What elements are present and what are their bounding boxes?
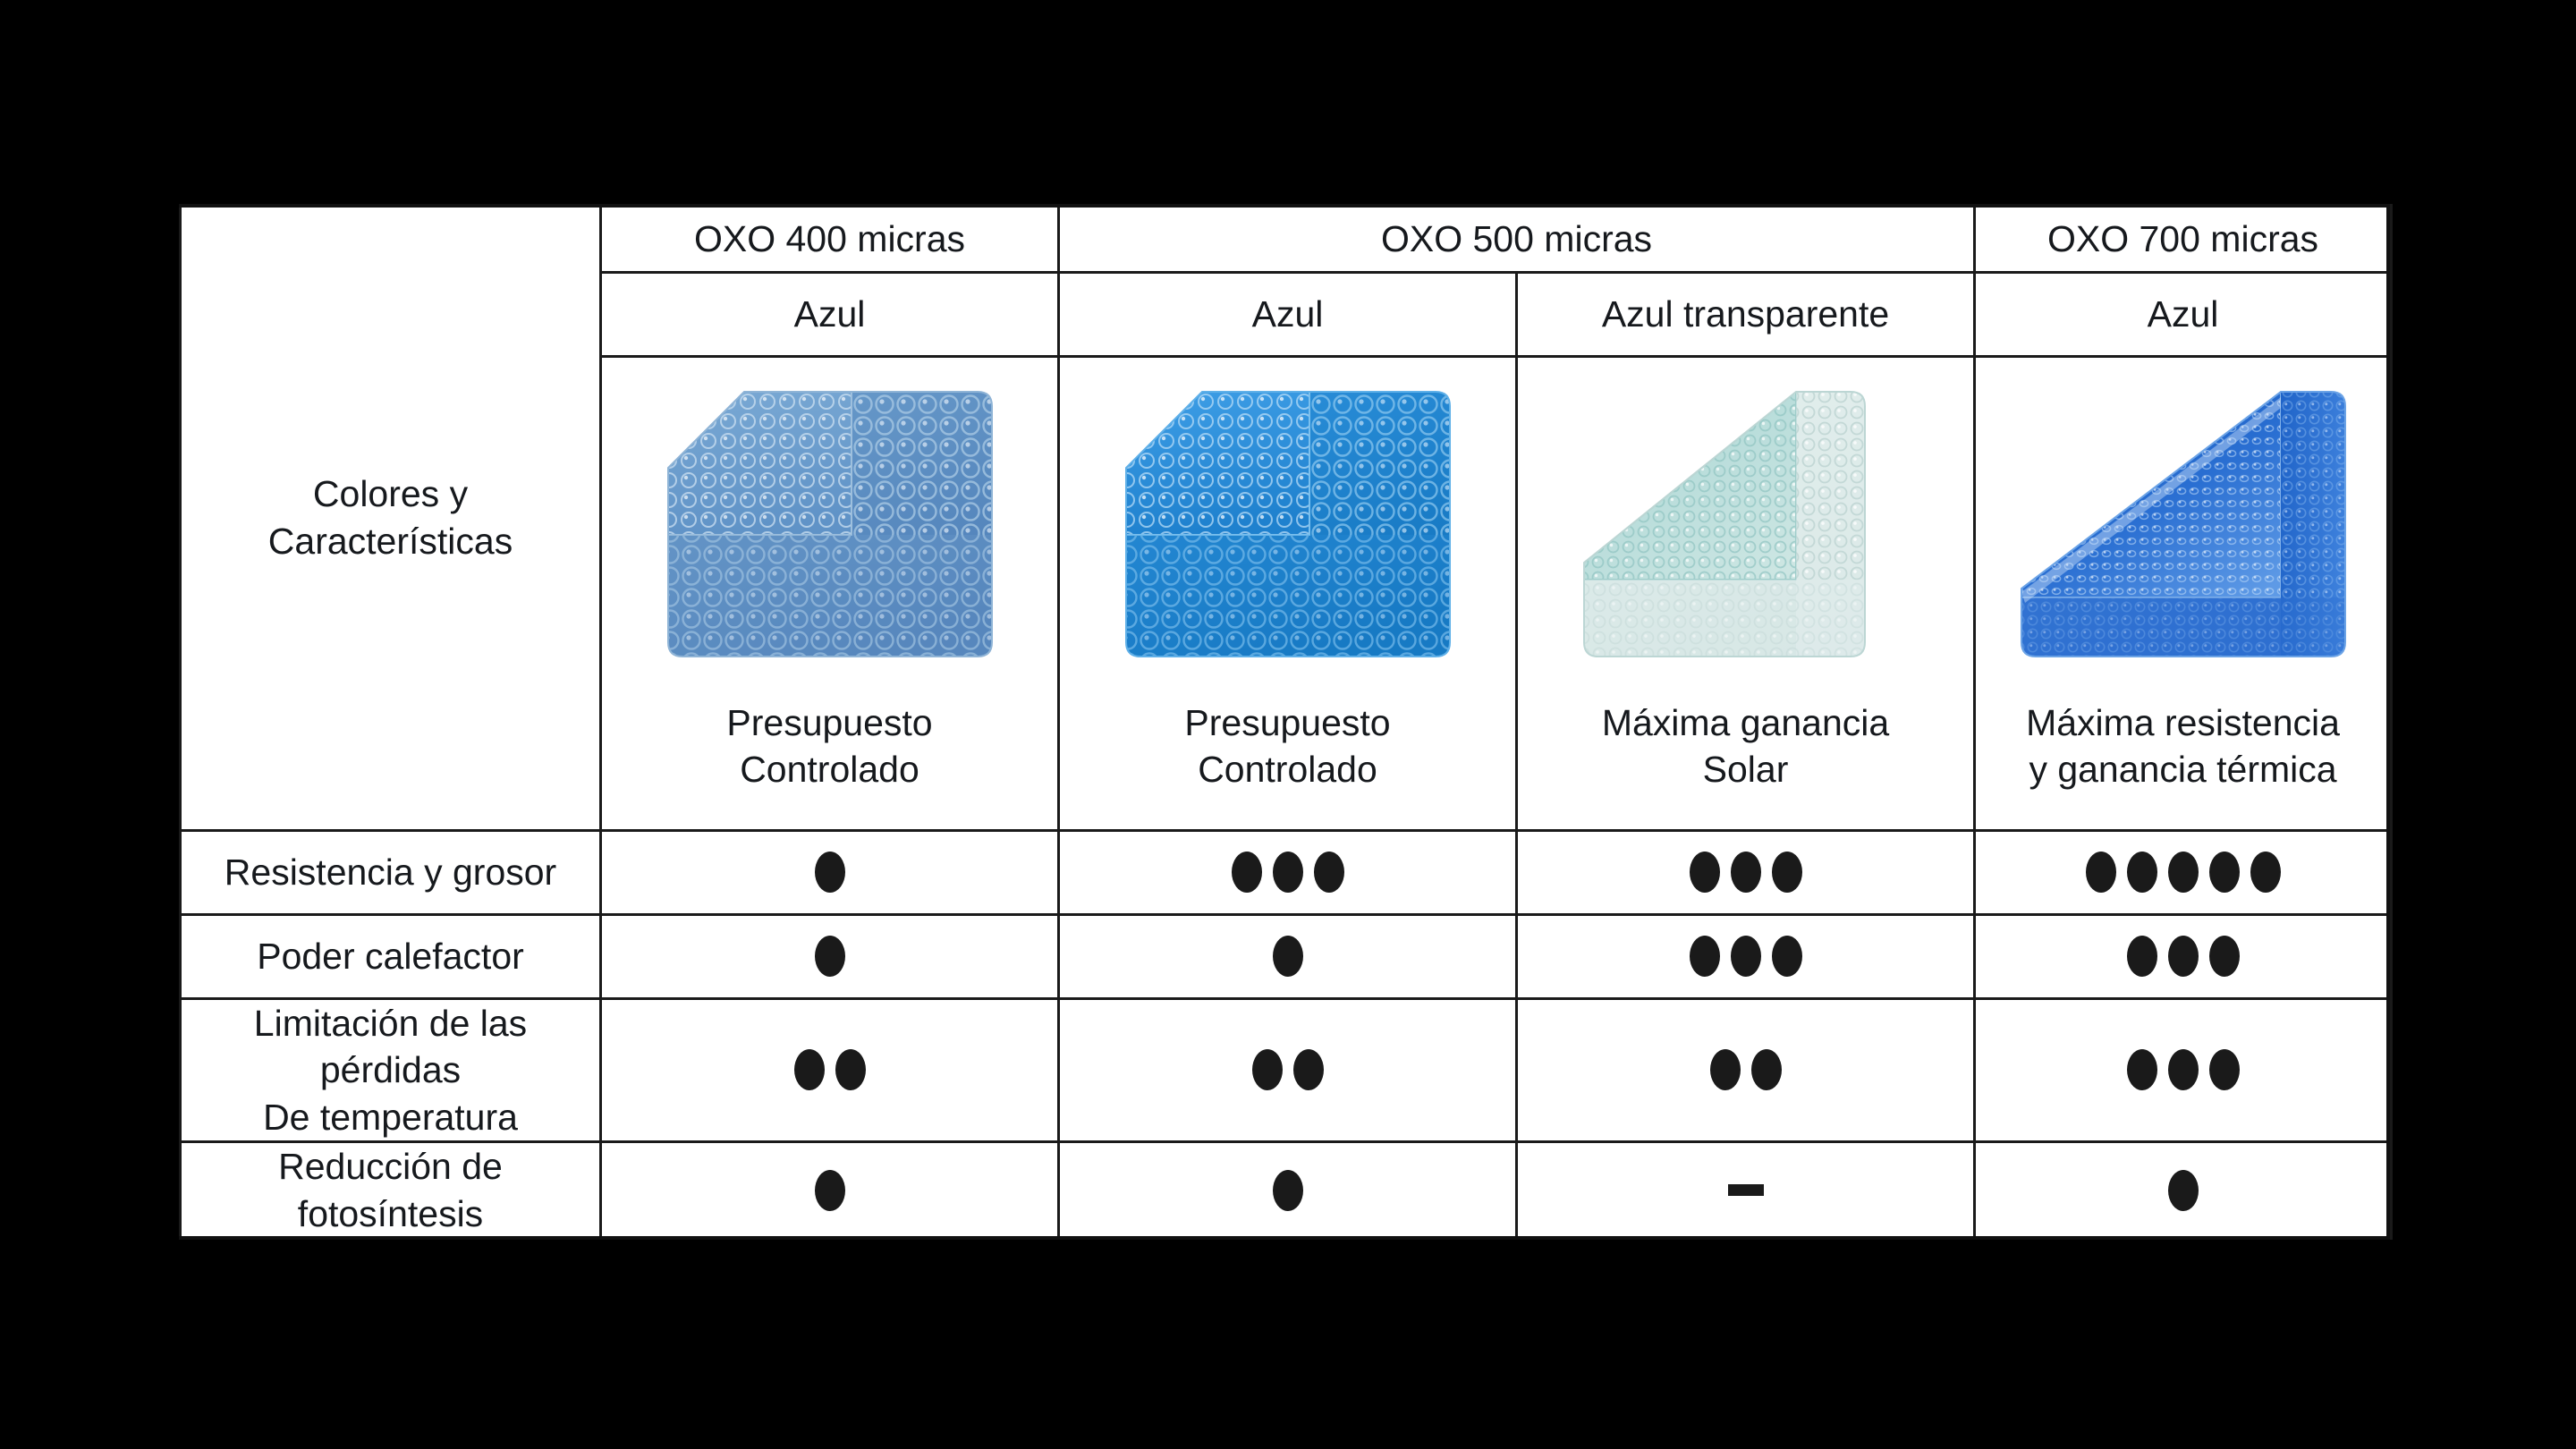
rating-dots — [1527, 1000, 1964, 1140]
rating-dot-icon — [1731, 852, 1761, 893]
rating-dot-icon — [1252, 1049, 1283, 1090]
feature-label-poder-calefactor: Poder calefactor — [181, 914, 601, 998]
rating-dots — [1527, 832, 1964, 913]
rating-dot-icon — [1232, 852, 1262, 893]
product-header-oxo-700: OXO 700 micras — [1975, 206, 2392, 273]
table-row: Resistencia y grosor — [181, 830, 2392, 914]
rating-dot-icon — [2168, 936, 2199, 977]
product-caption-oxo-400: Presupuesto Controlado — [726, 699, 932, 793]
rating-dot-icon — [2250, 852, 2281, 893]
rating-dot-icon — [1731, 936, 1761, 977]
product-cell-oxo-500-transparente: Máxima ganancia Solar — [1517, 356, 1975, 830]
rating-dot-icon — [1314, 852, 1344, 893]
rating-dot-icon — [2127, 936, 2157, 977]
rating-dot-icon — [815, 1170, 845, 1211]
rating-dot-icon — [2127, 852, 2157, 893]
product-caption-oxo-700: Máxima resistencia y ganancia térmica — [2026, 699, 2340, 793]
product-comparison-table: Colores y Características OXO 400 micras… — [179, 204, 2393, 1240]
rating-dot-icon — [2209, 852, 2240, 893]
rating-cell-r0-c3 — [1975, 830, 2392, 914]
rating-dot-icon — [794, 1049, 825, 1090]
rating-dot-icon — [2168, 1170, 2199, 1211]
comparison-table-container: Colores y Características OXO 400 micras… — [179, 204, 2390, 1240]
rating-dots — [1985, 832, 2381, 913]
rating-dot-icon — [815, 936, 845, 977]
rating-dots — [611, 1143, 1048, 1237]
rating-cell-r3-c0 — [601, 1142, 1059, 1239]
rating-cell-r1-c3 — [1975, 914, 2392, 998]
rating-dots — [1985, 916, 2381, 997]
table-header-row-products: Colores y Características OXO 400 micras… — [181, 206, 2392, 273]
product-cell-oxo-700-azul: Máxima resistencia y ganancia térmica — [1975, 356, 2392, 830]
rating-dot-icon — [1710, 1049, 1741, 1090]
rating-dots — [1069, 832, 1506, 913]
rating-dots — [1069, 916, 1506, 997]
pool-cover-transparent-image — [1575, 372, 1917, 676]
rating-dots — [1985, 1000, 2381, 1140]
pool-cover-bright-blue-image — [1117, 372, 1459, 676]
rating-cell-r2-c0 — [601, 998, 1059, 1141]
rating-dots — [611, 1000, 1048, 1140]
rating-dot-icon — [1772, 936, 1802, 977]
rating-dots — [611, 916, 1048, 997]
pool-cover-medium-blue-image — [659, 372, 1001, 676]
rating-dot-icon — [2168, 852, 2199, 893]
rating-dot-icon — [1690, 852, 1720, 893]
rating-dot-icon — [2168, 1049, 2199, 1090]
table-row: Limitación de las pérdidas De temperatur… — [181, 998, 2392, 1141]
product-header-oxo-400: OXO 400 micras — [601, 206, 1059, 273]
rating-cell-r1-c2 — [1517, 914, 1975, 998]
rating-dot-icon — [2209, 1049, 2240, 1090]
color-header-azul-500: Azul — [1059, 272, 1517, 356]
rating-dot-icon — [1690, 936, 1720, 977]
product-cell-oxo-500-azul: Presupuesto Controlado — [1059, 356, 1517, 830]
feature-column-header-cell: Colores y Características — [181, 206, 601, 831]
product-header-oxo-500: OXO 500 micras — [1059, 206, 1975, 273]
rating-dash-icon — [1728, 1184, 1764, 1196]
rating-cell-r0-c2 — [1517, 830, 1975, 914]
rating-dots — [611, 832, 1048, 913]
color-header-azul-transparente-500: Azul transparente — [1517, 272, 1975, 356]
color-header-azul-400: Azul — [601, 272, 1059, 356]
rating-cell-r3-c1 — [1059, 1142, 1517, 1239]
feature-label-resistencia-y-grosor: Resistencia y grosor — [181, 830, 601, 914]
rating-dot-icon — [1273, 852, 1303, 893]
table-row: Reducción de fotosíntesis — [181, 1142, 2392, 1239]
rating-dot-icon — [2127, 1049, 2157, 1090]
rating-cell-r0-c1 — [1059, 830, 1517, 914]
rating-cell-r2-c1 — [1059, 998, 1517, 1141]
table-row: Poder calefactor — [181, 914, 2392, 998]
pool-cover-deep-blue-image — [2012, 372, 2354, 676]
product-caption-oxo-500-azul: Presupuesto Controlado — [1184, 699, 1390, 793]
rating-cell-r1-c1 — [1059, 914, 1517, 998]
rating-dot-icon — [1273, 936, 1303, 977]
rating-dots — [1069, 1000, 1506, 1140]
product-cell-oxo-400-azul: Presupuesto Controlado — [601, 356, 1059, 830]
rating-cell-r3-c2 — [1517, 1142, 1975, 1239]
rating-dot-icon — [2086, 852, 2116, 893]
rating-dots — [1985, 1143, 2381, 1237]
feature-column-label: Colores y Características — [268, 473, 513, 561]
rating-cell-r1-c0 — [601, 914, 1059, 998]
rating-cell-r3-c3 — [1975, 1142, 2392, 1239]
rating-dot-icon — [1772, 852, 1802, 893]
rating-dot-icon — [2209, 936, 2240, 977]
rating-dot-icon — [1751, 1049, 1782, 1090]
feature-label-limitacion-perdidas-temperatura: Limitación de las pérdidas De temperatur… — [181, 998, 601, 1141]
page-root: Colores y Características OXO 400 micras… — [0, 0, 2576, 1449]
rating-cell-r2-c3 — [1975, 998, 2392, 1141]
color-header-azul-700: Azul — [1975, 272, 2392, 356]
feature-label-reduccion-fotosintesis: Reducción de fotosíntesis — [181, 1142, 601, 1239]
rating-dot-icon — [1293, 1049, 1324, 1090]
rating-cell-r2-c2 — [1517, 998, 1975, 1141]
rating-dots — [1527, 916, 1964, 997]
product-caption-oxo-500-transparente: Máxima ganancia Solar — [1602, 699, 1889, 793]
rating-dot-icon — [1273, 1170, 1303, 1211]
rating-dot-icon — [815, 852, 845, 893]
rating-dots — [1069, 1143, 1506, 1237]
rating-dots — [1527, 1143, 1964, 1237]
rating-dot-icon — [835, 1049, 866, 1090]
rating-cell-r0-c0 — [601, 830, 1059, 914]
